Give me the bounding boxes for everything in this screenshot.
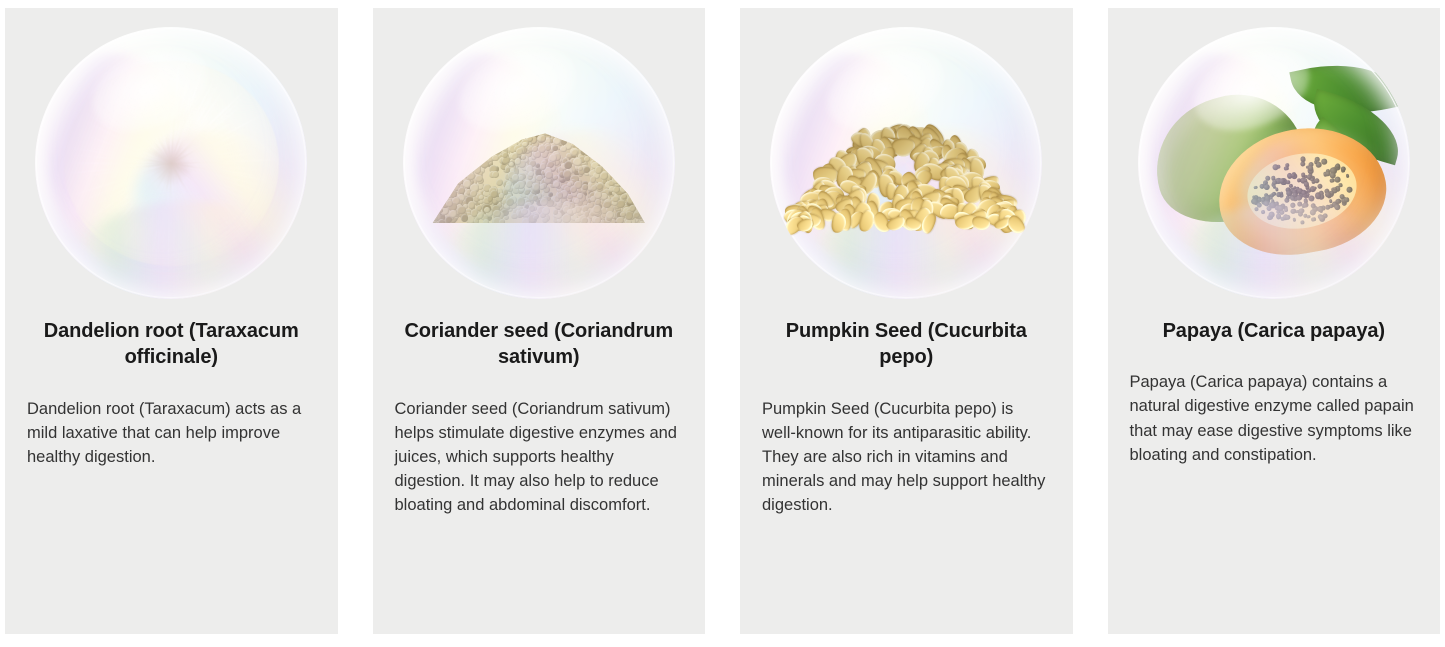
papaya-whole-fruit [1140,79,1318,240]
dandelion-seedhead-icon [64,61,279,266]
papaya-seed-cavity [1241,145,1363,238]
coriander-seed-pile-icon [433,119,645,223]
card-text-block: Papaya (Carica papaya) Papaya (Carica pa… [1108,318,1441,467]
iridescent-swirl [35,31,232,294]
papaya-leaf-icon [1302,89,1409,165]
bubble-highlight [80,32,219,147]
iridescent-swirl [803,191,1015,299]
bubble-image-coriander [373,8,706,318]
bubble-highlight [447,32,586,147]
card-title: Pumpkin Seed (Cucurbita pepo) [762,318,1051,371]
soap-bubble-icon [35,27,307,299]
bubble-contents-papaya [1138,27,1410,299]
iridescent-swirl [119,115,308,299]
bubble-contents-pumpkin-seed [770,27,1042,299]
iridescent-swirl [1221,115,1410,299]
card-description: Dandelion root (Taraxacum) acts as a mil… [27,397,316,469]
bubble-image-dandelion [5,8,338,318]
card-description: Papaya (Carica papaya) contains a natura… [1130,370,1419,466]
ingredient-card-coriander[interactable]: Coriander seed (Coriandrum sativum) Cori… [373,8,706,634]
papaya-fruit-icon [1148,55,1400,271]
papaya-halved-fruit [1208,115,1395,266]
iridescent-swirl [486,115,675,299]
papaya-leaf-icon [1293,117,1388,208]
card-text-block: Pumpkin Seed (Cucurbita pepo) Pumpkin Se… [740,318,1073,517]
iridescent-swirl [770,31,967,294]
card-text-block: Coriander seed (Coriandrum sativum) Cori… [373,318,706,517]
iridescent-swirl [1171,191,1383,299]
bubble-contents-dandelion [35,27,307,299]
soap-bubble-icon [770,27,1042,299]
soap-bubble-icon [403,27,675,299]
ingredient-card-pumpkin-seed[interactable]: Pumpkin Seed (Cucurbita pepo) Pumpkin Se… [740,8,1073,634]
bubble-image-papaya [1108,8,1441,318]
iridescent-swirl [403,31,600,294]
ingredient-card-dandelion[interactable]: Dandelion root (Taraxacum officinale) Da… [5,8,338,634]
card-title: Dandelion root (Taraxacum officinale) [27,318,316,371]
ingredient-card-papaya[interactable]: Papaya (Carica papaya) Papaya (Carica pa… [1108,8,1441,634]
ingredient-card-grid: Dandelion root (Taraxacum officinale) Da… [0,0,1445,647]
pumpkin-seed-pile-icon [794,117,1018,229]
bubble-rim [404,28,674,298]
card-text-block: Dandelion root (Taraxacum officinale) Da… [5,318,338,469]
bubble-highlight [1182,32,1321,147]
iridescent-swirl [436,191,648,299]
bubble-rim [1139,28,1409,298]
iridescent-swirl [68,191,280,299]
coriander-mound [433,119,645,223]
bubble-image-pumpkin-seed [740,8,1073,318]
bubble-rim [771,28,1041,298]
card-description: Coriander seed (Coriandrum sativum) help… [395,397,684,517]
bubble-contents-coriander [403,27,675,299]
card-title: Coriander seed (Coriandrum sativum) [395,318,684,371]
bubble-rim [36,28,306,298]
card-description: Pumpkin Seed (Cucurbita pepo) is well-kn… [762,397,1051,517]
bubble-highlight [815,32,954,147]
soap-bubble-icon [1138,27,1410,299]
iridescent-swirl [1138,31,1335,294]
papaya-leaf-icon [1289,51,1402,127]
card-title: Papaya (Carica papaya) [1130,318,1419,344]
iridescent-swirl [854,115,1043,299]
